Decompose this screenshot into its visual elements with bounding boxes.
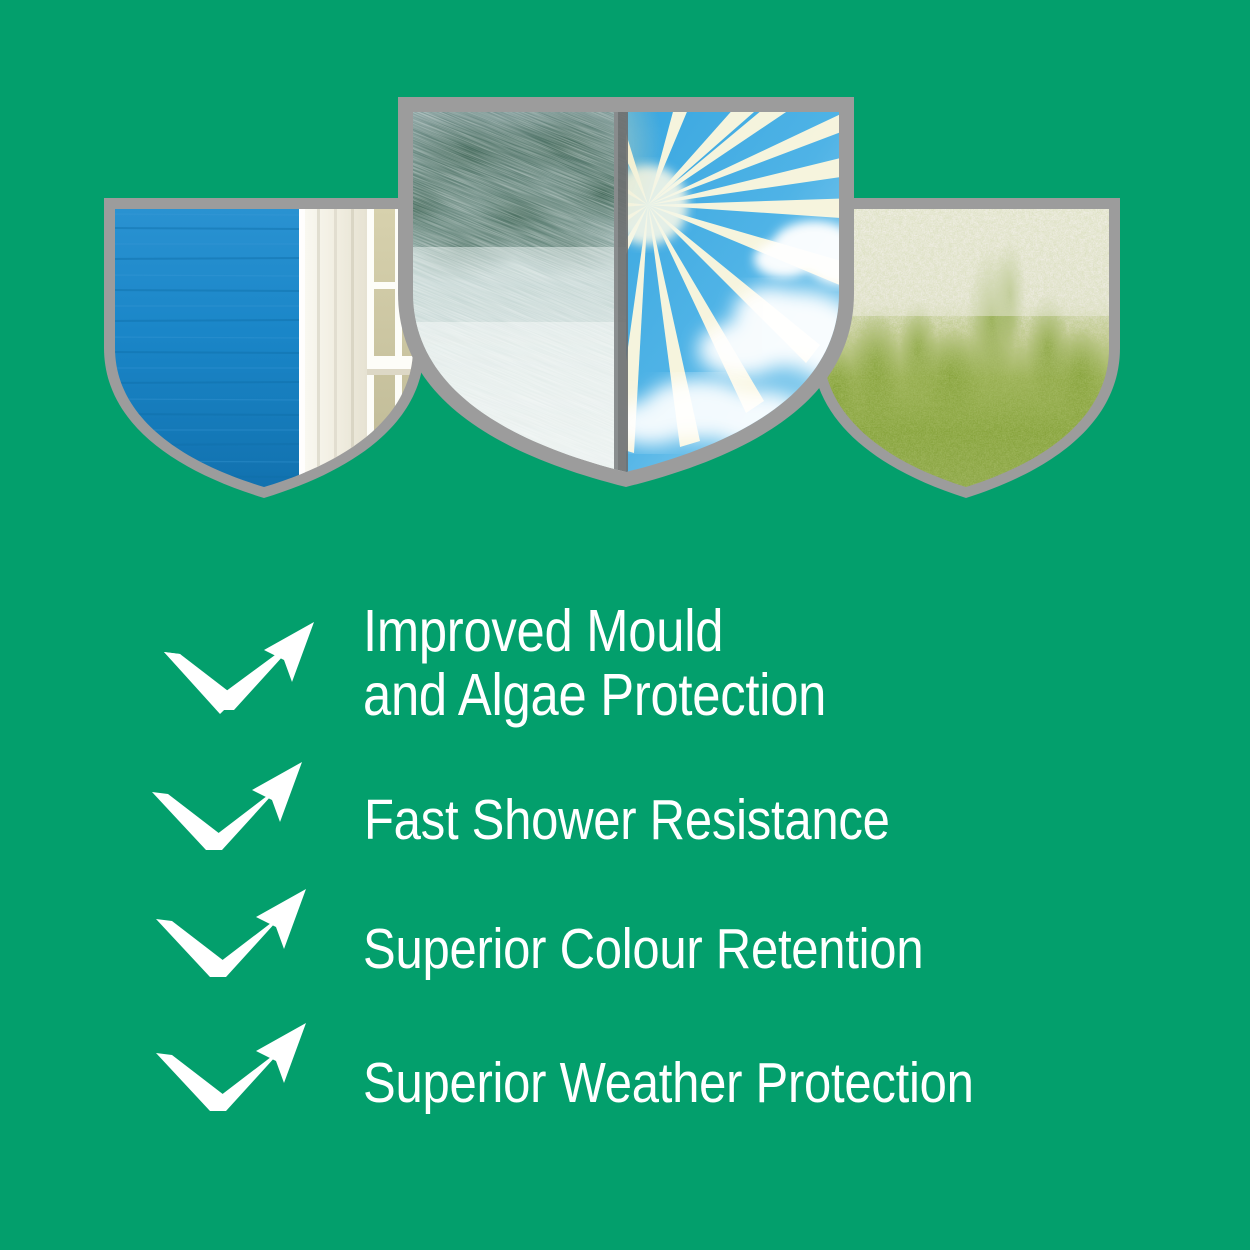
feature-item-fast-shower-resistance[interactable]: Fast Shower Resistance	[0, 752, 1250, 877]
feature-label: Superior Weather Protection	[363, 1053, 974, 1115]
poster-canvas: Improved Mould and Algae Protection Fast…	[0, 0, 1250, 1250]
shield-algae-mould-wall	[812, 198, 1120, 498]
feature-list: Improved Mould and Algae Protection Fast…	[0, 592, 1250, 1133]
arrow-tick-icon	[152, 1011, 322, 1131]
feature-label: Improved Mould and Algae Protection	[363, 600, 826, 727]
arrow-tick-icon	[152, 877, 322, 997]
shield-rain-and-sun	[398, 97, 854, 487]
shield-group	[0, 0, 1250, 520]
shield-left-photo	[104, 198, 427, 498]
feature-label: Fast Shower Resistance	[364, 790, 890, 852]
photo-seam	[614, 97, 628, 487]
shield-blue-brick-house	[104, 198, 424, 498]
feature-item-superior-weather-protection[interactable]: Superior Weather Protection	[0, 1005, 1250, 1133]
feature-label: Superior Colour Retention	[363, 919, 923, 981]
arrow-tick-icon	[160, 610, 330, 730]
feature-item-superior-colour-retention[interactable]: Superior Colour Retention	[0, 877, 1250, 1005]
shield-right-photo	[812, 198, 1120, 498]
feature-item-improved-mould-and-algae-protection[interactable]: Improved Mould and Algae Protection	[0, 592, 1250, 752]
arrow-tick-icon	[148, 750, 318, 870]
